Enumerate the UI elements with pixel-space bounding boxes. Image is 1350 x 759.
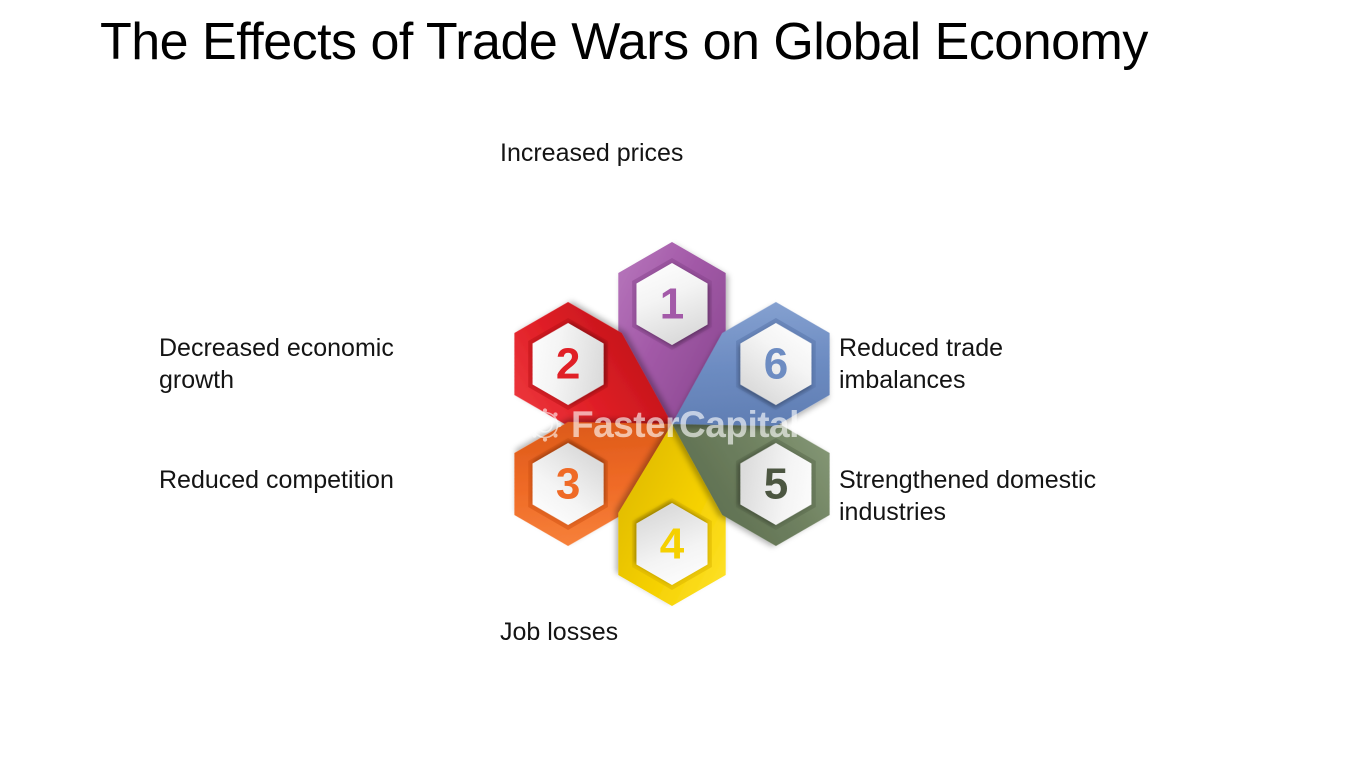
- petal-number-3: 3: [556, 460, 580, 509]
- petal-label-reduced-trade-imbalances: Reduced trade imbalances: [839, 332, 1139, 396]
- petal-number-5: 5: [764, 460, 788, 509]
- petal-number-4: 4: [660, 520, 685, 569]
- petal-label-strengthened-domestic-industries: Strengthened domestic industries: [839, 464, 1169, 528]
- petal-label-decreased-economic-growth: Decreased economic growth: [159, 332, 459, 396]
- petal-label-reduced-competition: Reduced competition: [159, 464, 479, 496]
- petal-number-2: 2: [556, 340, 580, 389]
- petal-number-6: 6: [764, 340, 788, 389]
- petal-label-job-losses: Job losses: [500, 616, 830, 648]
- petal-number-1: 1: [660, 280, 684, 329]
- petal-label-increased-prices: Increased prices: [500, 137, 830, 169]
- flower-svg: 123456: [455, 225, 890, 625]
